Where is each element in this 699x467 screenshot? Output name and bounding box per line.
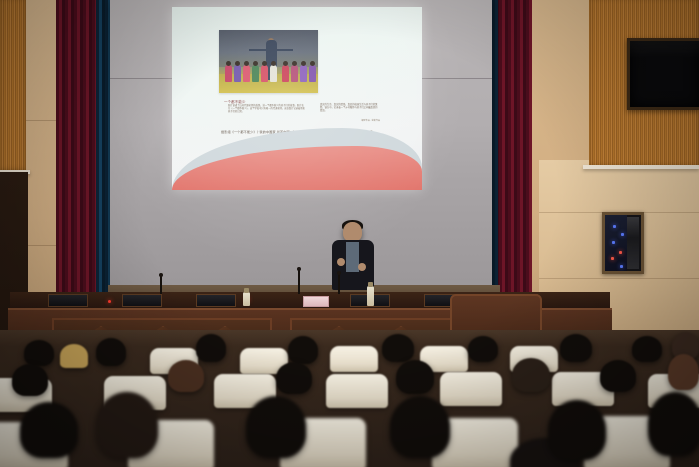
attendee-head bbox=[548, 400, 606, 460]
audience-seating bbox=[0, 330, 699, 467]
presenter-hand-right bbox=[358, 263, 366, 271]
name-placard bbox=[303, 296, 329, 307]
attendee-head bbox=[468, 336, 498, 362]
attendee-head bbox=[396, 360, 434, 394]
seat bbox=[440, 372, 502, 406]
slide-caption-heading: 一个都不能少 bbox=[224, 99, 246, 104]
seat bbox=[326, 374, 388, 408]
presentation-slide: 一个都不能少 影片讲述了山村代课老师的故事，讲一个都不能少的孩子们的故事。影片名… bbox=[172, 7, 422, 190]
water-bottle bbox=[243, 292, 250, 306]
gooseneck-microphone bbox=[338, 274, 340, 294]
wall-display-screen bbox=[627, 38, 699, 110]
attendee-head bbox=[390, 396, 450, 458]
attendee-head bbox=[632, 336, 662, 362]
photo-child bbox=[291, 65, 298, 82]
desk-monitor bbox=[48, 294, 88, 307]
photo-child bbox=[300, 65, 307, 82]
photo-child bbox=[243, 65, 250, 82]
slide-photograph bbox=[219, 30, 318, 93]
water-bottle bbox=[367, 286, 374, 306]
slide-caption-body: 影片讲述了山村代课老师的故事，讲一个都不能少的孩子们的故事。影片名为《一个都不能… bbox=[228, 105, 306, 114]
attendee-head bbox=[648, 392, 699, 456]
photo-child bbox=[234, 65, 241, 82]
indicator-led-icon bbox=[108, 300, 111, 303]
status-led-icon bbox=[611, 257, 614, 260]
attendee-head bbox=[560, 334, 592, 362]
status-led-icon bbox=[613, 225, 616, 228]
attendee-cap-icon bbox=[60, 344, 88, 368]
projection-screen: 一个都不能少 影片讲述了山村代课老师的故事，讲一个都不能少的孩子们的故事。影片名… bbox=[110, 0, 492, 292]
photo-teacher-arm-left bbox=[249, 49, 267, 51]
status-led-icon bbox=[612, 241, 615, 244]
photo-child bbox=[270, 65, 277, 82]
attendee-head bbox=[668, 354, 699, 390]
lecture-hall-photo: 一个都不能少 影片讲述了山村代课老师的故事，讲一个都不能少的孩子们的故事。影片名… bbox=[0, 0, 699, 467]
left-wood-panel bbox=[0, 0, 26, 172]
presenter-hand-left bbox=[337, 258, 345, 266]
desk-monitor bbox=[196, 294, 236, 307]
seat bbox=[330, 346, 378, 372]
attendee-head bbox=[246, 396, 306, 458]
status-led-icon bbox=[619, 251, 622, 254]
photo-child bbox=[225, 65, 232, 82]
attendee-head bbox=[20, 402, 78, 458]
photo-child bbox=[252, 65, 259, 82]
right-wood-ledge bbox=[583, 165, 699, 169]
presenter bbox=[330, 222, 376, 290]
attendee-head bbox=[196, 334, 226, 362]
photo-child bbox=[309, 65, 316, 82]
attendee-head bbox=[168, 360, 204, 392]
attendee-head bbox=[600, 360, 636, 392]
gooseneck-microphone bbox=[298, 270, 300, 294]
attendee-head bbox=[276, 362, 312, 394]
control-window-frame-strip bbox=[627, 217, 639, 269]
status-led-icon bbox=[621, 233, 624, 236]
attendee-head bbox=[24, 340, 54, 366]
attendee-head bbox=[96, 392, 158, 458]
desk-monitor bbox=[122, 294, 162, 307]
gooseneck-microphone bbox=[160, 276, 162, 294]
av-control-window bbox=[602, 212, 644, 274]
display-glare bbox=[630, 41, 699, 58]
presenter-head bbox=[343, 222, 362, 242]
photo-child bbox=[261, 65, 268, 82]
status-led-icon bbox=[620, 265, 623, 268]
attendee-head bbox=[382, 334, 414, 362]
attendee-head bbox=[288, 336, 318, 364]
slide-caption-secondary: 真实的生命、真实的情感，真实的校园生活与孩子们的笑脸。镜头中，记录着一个乡村教师… bbox=[320, 104, 378, 113]
control-window-glass bbox=[605, 215, 627, 271]
photo-child bbox=[282, 65, 289, 82]
photo-teacher-arm-right bbox=[275, 49, 293, 51]
slide-photo-signature: 摄影作品 · 获奖作品 bbox=[362, 119, 380, 122]
attendee-head bbox=[512, 358, 550, 392]
attendee-head bbox=[12, 364, 48, 396]
attendee-head bbox=[96, 338, 126, 366]
